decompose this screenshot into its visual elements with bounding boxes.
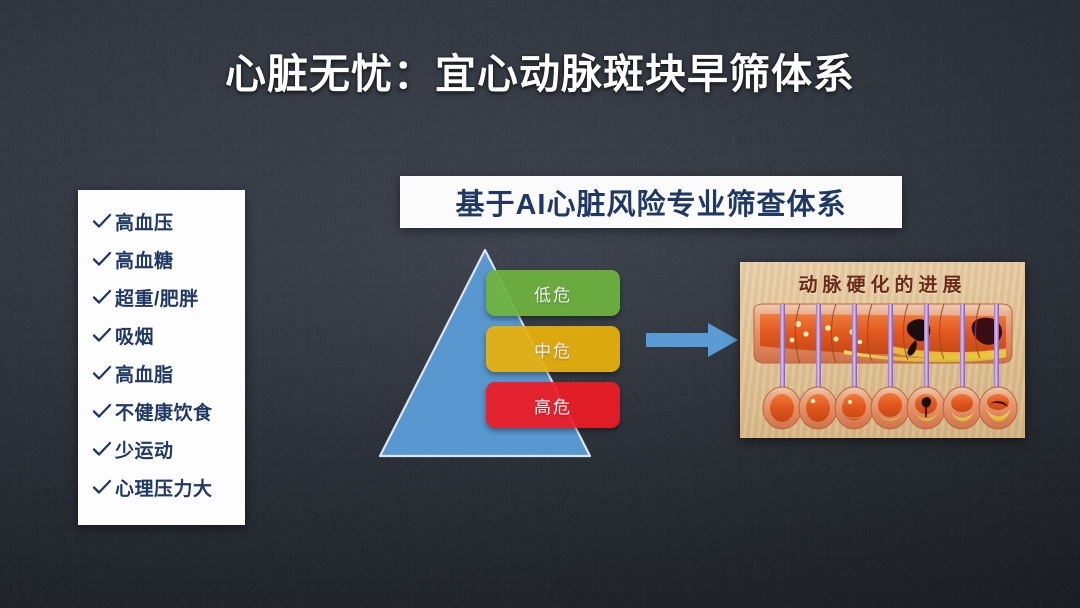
check-icon [92, 327, 115, 343]
list-item-label: 高血压 [115, 208, 174, 235]
list-item-label: 高血脂 [115, 360, 174, 387]
check-icon [92, 403, 115, 419]
list-item-label: 少运动 [115, 436, 174, 463]
list-item-label: 吸烟 [115, 322, 154, 349]
page-title: 心脏无忧：宜心动脉斑块早筛体系 [0, 50, 1080, 99]
list-item[interactable]: 不健康饮食 [78, 392, 245, 430]
presentation-slide: 心脏无忧：宜心动脉斑块早筛体系 高血压 高血糖 [0, 0, 1080, 608]
list-item-label: 心理压力大 [115, 474, 213, 501]
list-item[interactable]: 高血压 [78, 202, 245, 240]
pyramid-tier-label: 中危 [534, 337, 572, 362]
check-icon [92, 441, 115, 457]
right-arrow-icon [646, 322, 738, 358]
pyramid-tier-medium[interactable]: 中危 [486, 326, 620, 372]
list-item[interactable]: 高血脂 [78, 354, 245, 392]
risk-factor-card: 高血压 高血糖 超重/肥胖 吸烟 [78, 190, 245, 525]
list-item[interactable]: 吸烟 [78, 316, 245, 354]
banner-title: 基于AI心脏风险专业筛查体系 [455, 181, 846, 223]
risk-pyramid: 低危 中危 高危 [376, 248, 626, 463]
check-icon [92, 251, 115, 267]
pyramid-tier-low[interactable]: 低危 [486, 270, 620, 316]
list-item-label: 超重/肥胖 [115, 284, 199, 311]
atherosclerosis-figure: 动脉硬化的进展 [740, 262, 1025, 438]
check-icon [92, 289, 115, 305]
list-item-label: 高血糖 [115, 246, 174, 273]
list-item[interactable]: 高血糖 [78, 240, 245, 278]
check-icon [92, 213, 115, 229]
check-icon [92, 479, 115, 495]
pyramid-tier-high[interactable]: 高危 [486, 382, 620, 428]
check-icon [92, 365, 115, 381]
list-item[interactable]: 少运动 [78, 430, 245, 468]
list-item[interactable]: 超重/肥胖 [78, 278, 245, 316]
banner-card: 基于AI心脏风险专业筛查体系 [400, 176, 902, 228]
pyramid-tier-label: 低危 [534, 281, 572, 306]
pyramid-tier-label: 高危 [534, 393, 572, 418]
list-item[interactable]: 心理压力大 [78, 468, 245, 506]
list-item-label: 不健康饮食 [115, 398, 213, 425]
figure-caption: 动脉硬化的进展 [740, 270, 1025, 297]
